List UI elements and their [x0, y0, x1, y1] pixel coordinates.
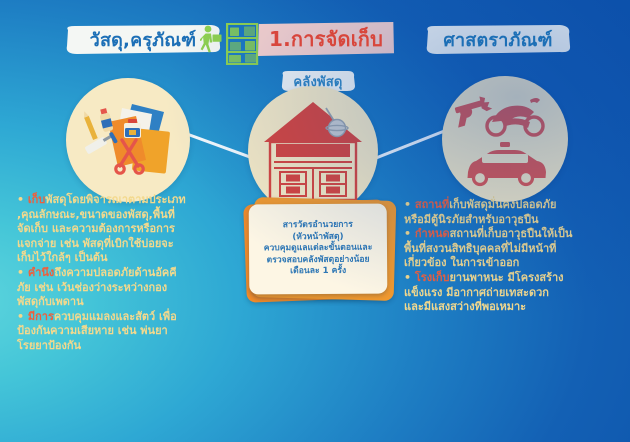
chip-weapons-assets[interactable]: ศาสตราภัณฑ์ — [424, 24, 572, 55]
right-bullet-1-lead: สถานที่ — [415, 198, 449, 211]
left-bullet-1-text-1: พัสดุโดยพิจารณาตามประเภท — [45, 193, 185, 206]
right-bullet-2-lead: กำหนด — [415, 227, 450, 240]
right-bullet-3-line-2: แข็งแรง มีอากาศถ่ายเทสะดวก — [404, 286, 620, 301]
bullet-marker: • — [404, 227, 415, 240]
chip-section-title[interactable]: 1.การจัดเก็บ — [258, 22, 394, 56]
left-bullet-3-line-1: • มีการควบคุมแมลงและสัตว์ เพื่อ — [17, 310, 220, 325]
left-bullet-3-text-1: ควบคุมแมลงและสัตว์ เพื่อ — [54, 310, 177, 323]
note-card-text: สารวัตรอำนวยการ (หัวหน้าพัสดุ) ควบคุมดูแ… — [257, 220, 378, 278]
left-bullet-3-line-2: ป้องกันความเสียหาย เช่น พ่นยา — [17, 324, 220, 339]
right-bullet-3-text-1: ยานพาหนะ มีโครงสร้าง — [449, 271, 563, 284]
chip-materials-equipment[interactable]: วัสดุ,ครุภัณฑ์ — [63, 24, 223, 55]
bullet-marker: • — [17, 193, 28, 206]
left-bullet-column: • เก็บพัสดุโดยพิจารณาตามประเภท ,คุณลักษณ… — [17, 193, 220, 354]
gun-motorcycle-policecar-icon: POLICE — [442, 76, 568, 202]
section-title-label: 1.การจัดเก็บ — [269, 23, 383, 55]
chip-warehouse-sub-label: คลังพัสดุ — [293, 71, 342, 92]
illustration-circle-supplies — [66, 78, 190, 202]
left-bullet-1-line-1: • เก็บพัสดุโดยพิจารณาตามประเภท — [17, 193, 220, 208]
bullet-marker: • — [17, 266, 28, 279]
bullet-marker: • — [404, 271, 415, 284]
left-bullet-1-line-4: แจกจ่าย เช่น พัสดุที่เบิกใช้บ่อยจะ — [17, 237, 220, 252]
right-bullet-3-line-3: และมีแสงสว่างที่พอเหมาะ — [404, 300, 620, 315]
left-bullet-1-line-3: จัดเก็บ และความต้องการหรือการ — [17, 222, 220, 237]
chip-materials-equipment-label: วัสดุ,ครุภัณฑ์ — [90, 25, 197, 54]
left-bullet-3-lead: มีการ — [28, 310, 54, 323]
center-note-card-stack: สารวัตรอำนวยการ (หัวหน้าพัสดุ) ควบคุมดูแ… — [243, 196, 395, 306]
right-bullet-2-text-1: สถานที่เก็บอาวุธปืนให้เป็น — [450, 227, 573, 240]
left-bullet-1-line-5: เก็บไว้ใกล้ๆ เป็นต้น — [17, 251, 220, 266]
chip-weapons-assets-label: ศาสตราภัณฑ์ — [443, 25, 552, 54]
right-bullet-3-lead: โรงเก็บ — [415, 271, 450, 284]
bullet-marker: • — [404, 198, 415, 211]
right-bullet-2-line-3: เกี่ยวข้อง ในการเข้าออก — [404, 256, 620, 271]
left-bullet-2-lead: คำนึง — [28, 266, 54, 279]
note-line-1: สารวัตรอำนวยการ — [263, 220, 372, 232]
note-line-5: เดือนละ 1 ครั้ง — [264, 266, 373, 278]
left-bullet-2-text-1: ถึงความปลอดภัยด้านอัคคี — [54, 266, 176, 279]
left-bullet-1-lead: เก็บ — [28, 193, 45, 206]
left-bullet-1-line-2: ,คุณลักษณะ,ขนาดของพัสดุ,พื้นที่ — [17, 208, 220, 223]
right-bullet-2-line-1: • กำหนดสถานที่เก็บอาวุธปืนให้เป็น — [404, 227, 620, 242]
illustration-circle-weapons: POLICE — [442, 76, 568, 202]
svg-text:POLICE: POLICE — [495, 165, 533, 175]
note-line-3: ควบคุมดูแลแต่ละขั้นตอนและ — [264, 243, 373, 255]
right-bullet-1-line-1: • สถานที่เก็บพัสดุมั่นคงปลอดภัย — [404, 198, 620, 213]
warehouse-shelf-icon — [200, 20, 260, 72]
right-bullet-column: • สถานที่เก็บพัสดุมั่นคงปลอดภัย หรือมีตู… — [404, 198, 620, 315]
left-bullet-2-line-1: • คำนึงถึงความปลอดภัยด้านอัคคี — [17, 266, 220, 281]
right-bullet-3-line-1: • โรงเก็บยานพาหนะ มีโครงสร้าง — [404, 271, 620, 286]
left-bullet-2-line-2: ภัย เช่น เว้นช่องว่างระหว่างกอง — [17, 281, 220, 296]
bullet-marker: • — [17, 310, 28, 323]
note-line-4: ตรวจสอบคลังพัสดุอย่างน้อย — [264, 254, 373, 266]
infographic-canvas: วัสดุ,ครุภัณฑ์ — [0, 0, 630, 442]
right-bullet-2-line-2: พื้นที่สงวนสิทธิบุคคลที่ไม่มีหน้าที่ — [404, 242, 620, 257]
right-bullet-1-line-2: หรือมีตู้นิรภัยสำหรับอาวุธปืน — [404, 213, 620, 228]
left-bullet-2-line-3: พัสดุกับเพดาน — [17, 295, 220, 310]
connector-center-to-right — [371, 128, 452, 160]
office-supplies-icon — [66, 78, 190, 202]
right-bullet-1-text-1: เก็บพัสดุมั่นคงปลอดภัย — [449, 198, 556, 211]
note-card-front[interactable]: สารวัตรอำนวยการ (หัวหน้าพัสดุ) ควบคุมดูแ… — [249, 204, 388, 295]
left-bullet-3-line-3: โรยยาป้องกัน — [17, 339, 220, 354]
